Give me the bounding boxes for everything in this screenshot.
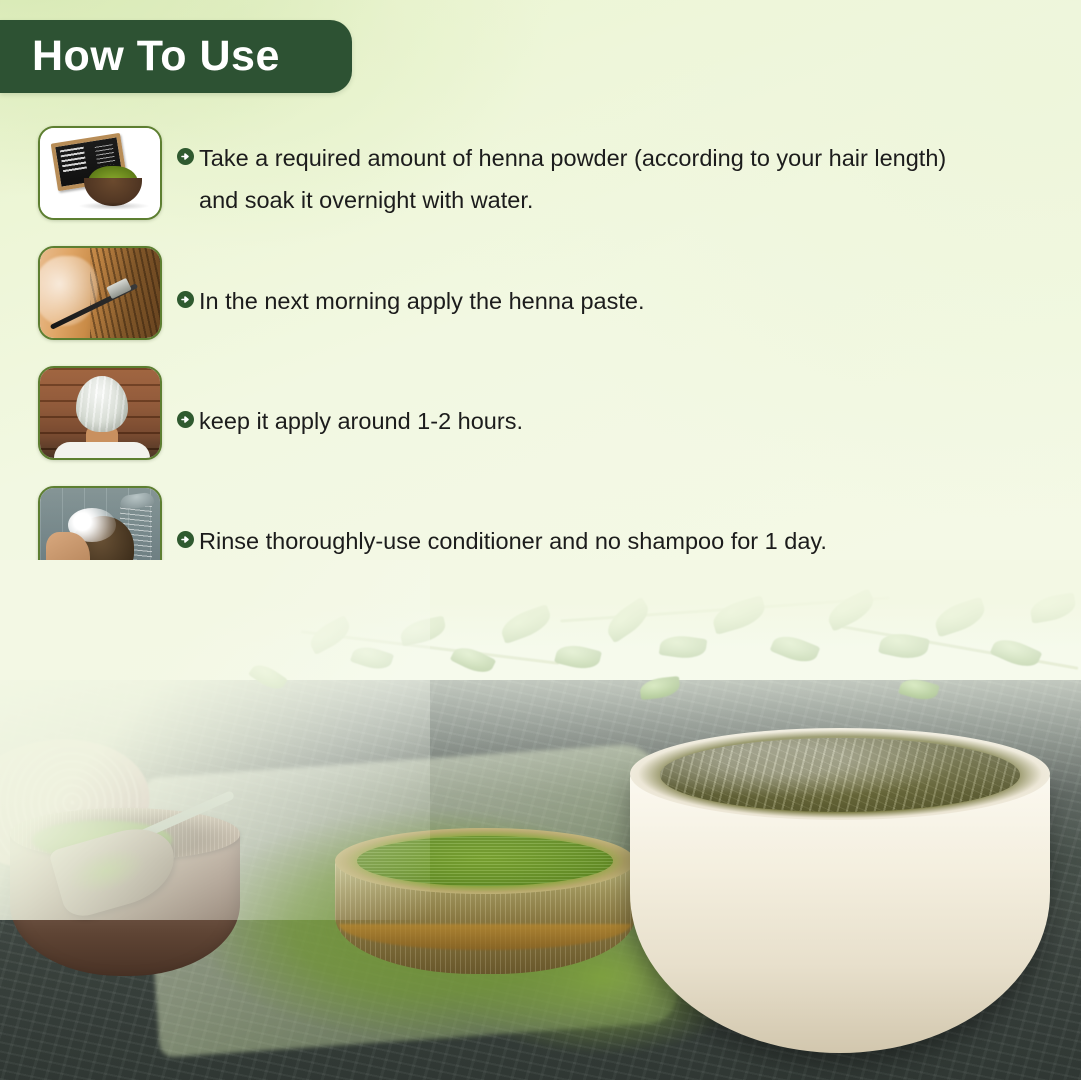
bullet-arrow-icon	[177, 411, 194, 428]
bullet-arrow-icon	[177, 531, 194, 548]
copper-bowl-with-powder-and-scoop	[10, 808, 240, 983]
list-item: Take a required amount of henna powder (…	[0, 126, 1081, 222]
page-title-banner: How To Use	[0, 20, 352, 93]
list-item: In the next morning apply the henna past…	[0, 246, 1081, 342]
hero-photo	[0, 560, 1081, 1080]
brass-sieve-with-henna-powder	[335, 828, 635, 1028]
step-text: Take a required amount of henna powder (…	[199, 137, 1079, 221]
bullet-arrow-icon	[177, 291, 194, 308]
step-thumbnail-brush-applying-henna-to-hair	[38, 246, 162, 340]
step-text: In the next morning apply the henna past…	[199, 280, 1059, 322]
list-item: keep it apply around 1-2 hours.	[0, 366, 1081, 462]
step-text: keep it apply around 1-2 hours.	[199, 400, 1059, 442]
shirt-shape	[54, 442, 150, 458]
bowl-shadow	[78, 202, 150, 210]
step-thumbnail-henna-powder-pack-bowl	[38, 126, 162, 220]
how-to-use-poster: How To Use Take a required amount of hen…	[0, 0, 1081, 1080]
bullet-arrow-icon	[177, 148, 194, 165]
step-thumbnail-hair-covered-with-shower-cap	[38, 366, 162, 460]
white-bowl-with-henna-paste	[630, 728, 1050, 1058]
page-title: How To Use	[32, 35, 280, 78]
step-text: Rinse thoroughly-use conditioner and no …	[199, 520, 1079, 562]
shower-cap-icon	[76, 376, 128, 432]
